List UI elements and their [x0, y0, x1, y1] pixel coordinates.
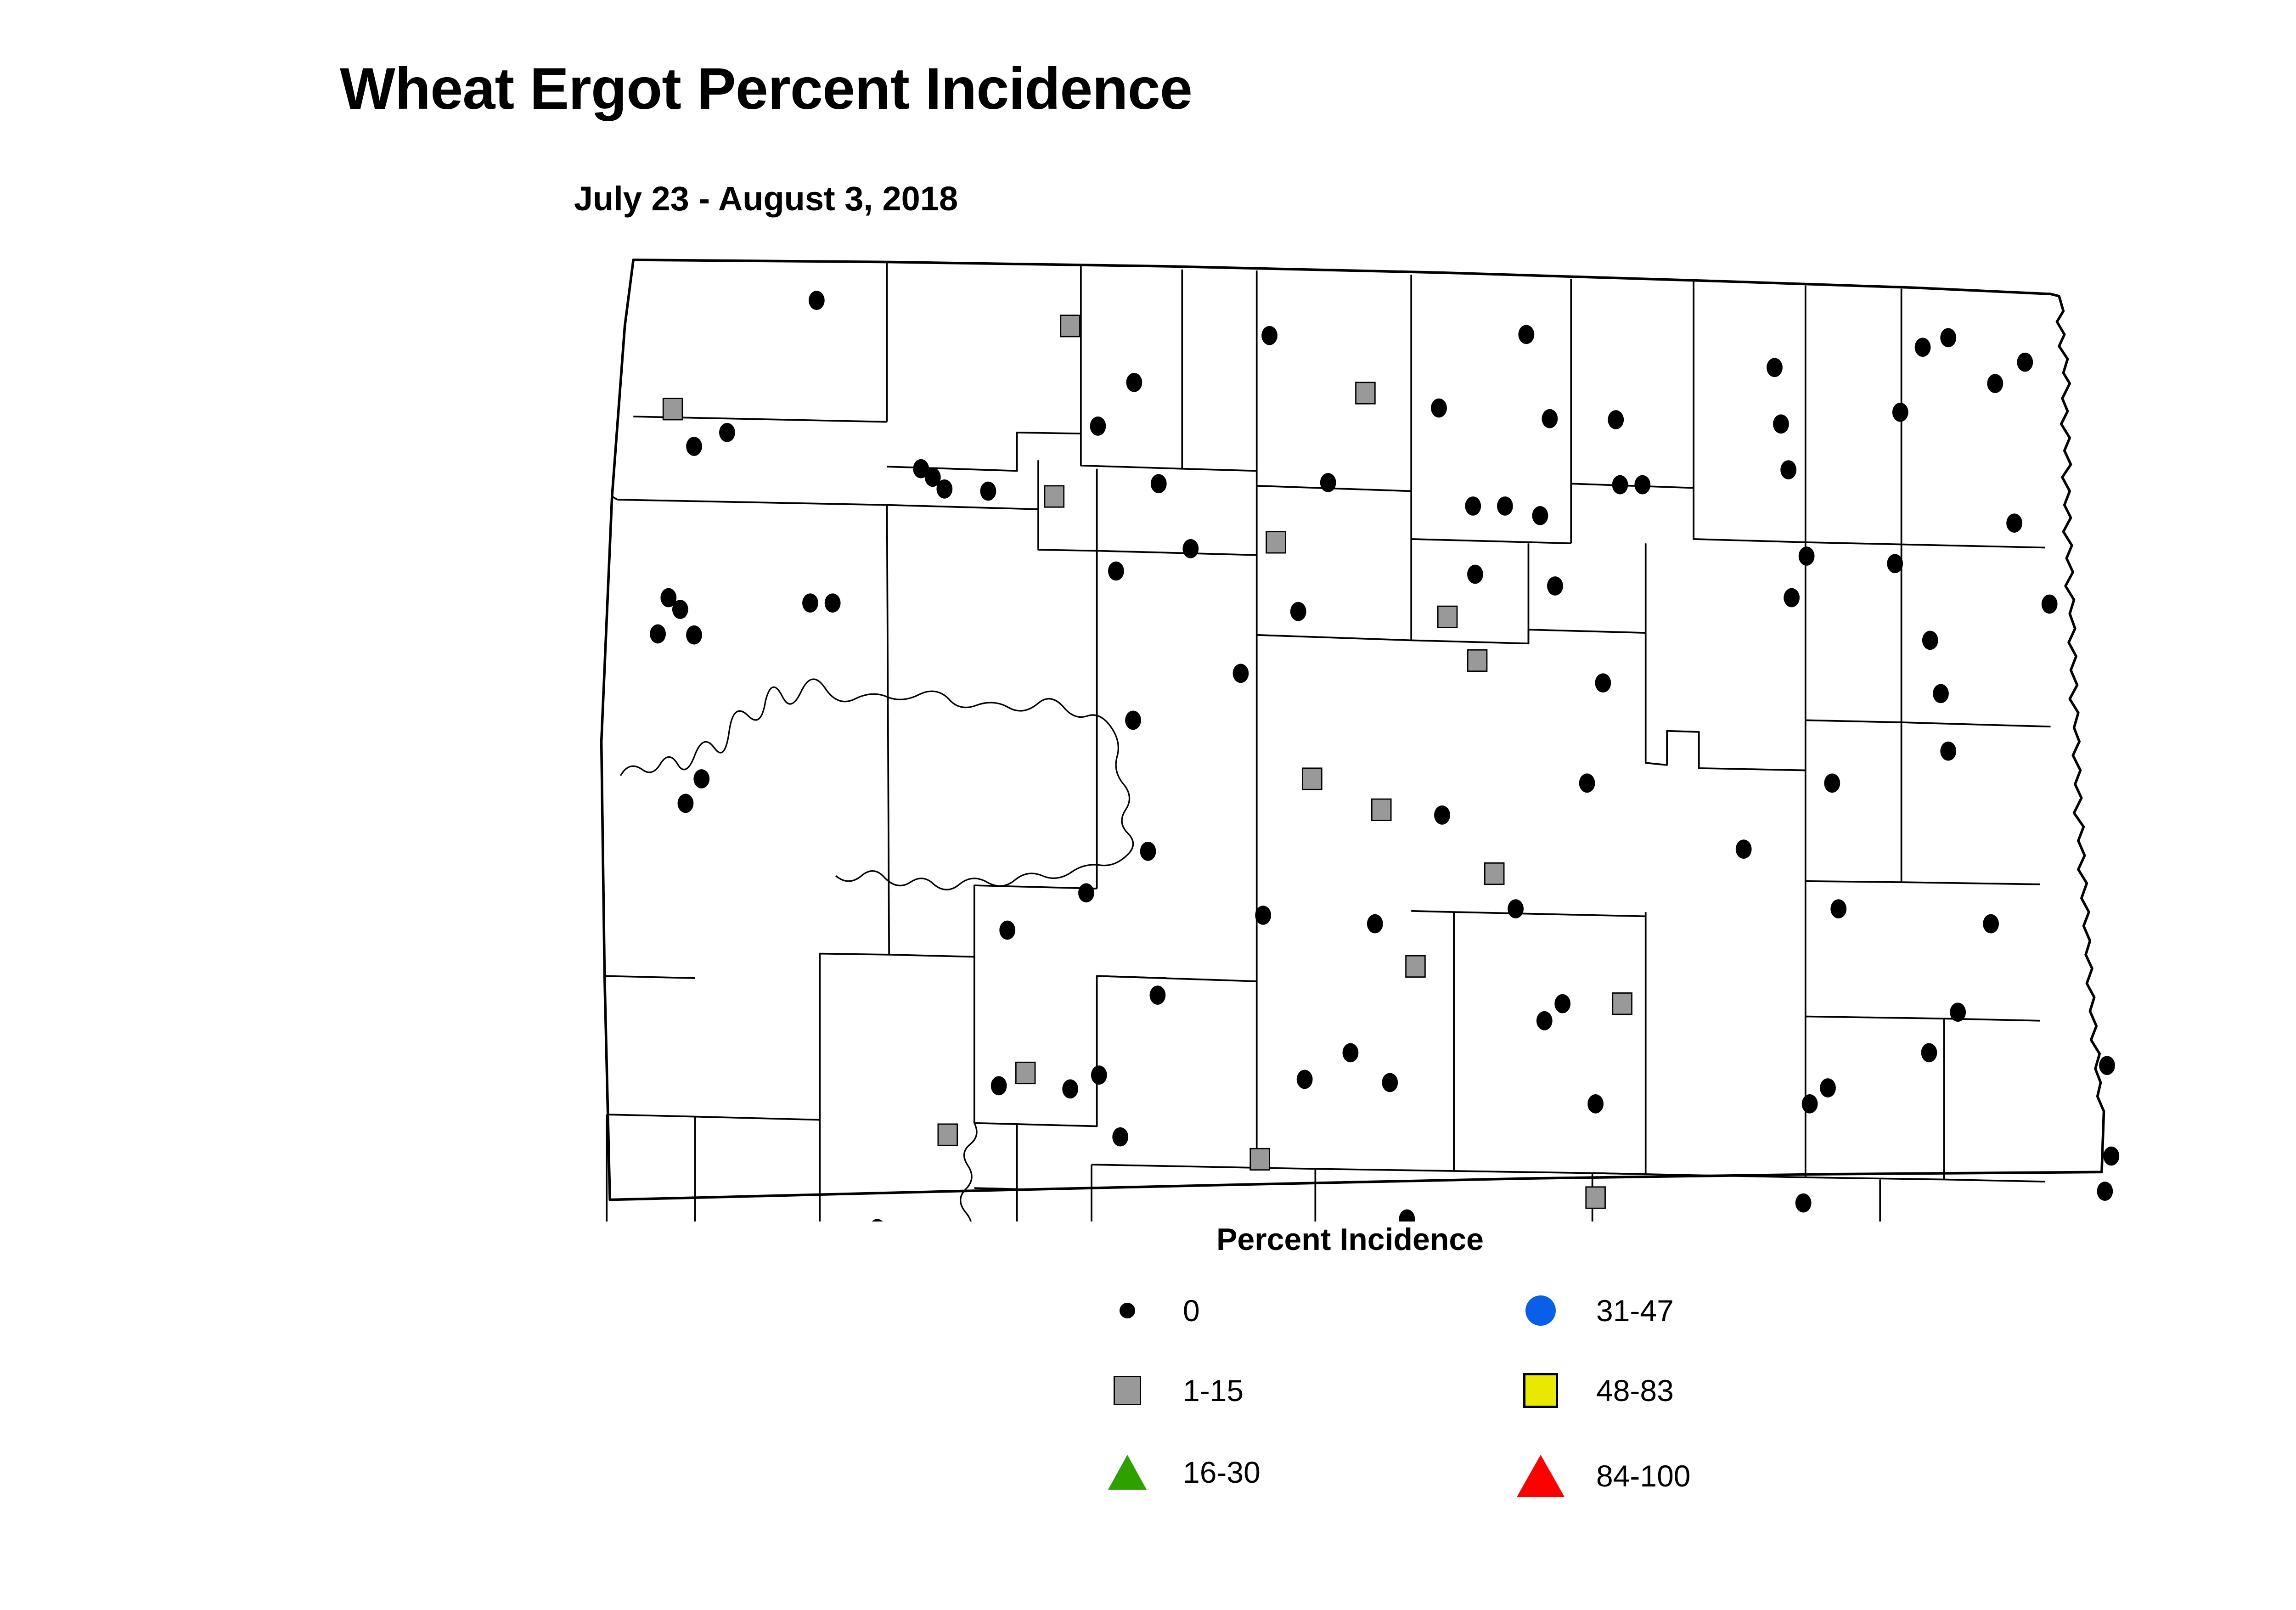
map-point-0 — [1987, 374, 2003, 393]
yellow-square-icon — [1506, 1373, 1575, 1408]
map-point-0 — [1382, 1073, 1398, 1092]
map-point-0 — [1587, 1094, 1604, 1114]
map-point-0 — [1820, 1078, 1836, 1098]
map-point-0 — [1090, 417, 1106, 436]
small-black-circle-icon — [1093, 1303, 1162, 1318]
map-point-0 — [1497, 496, 1513, 516]
map-point-0 — [1091, 1065, 1107, 1085]
map-point-0 — [1802, 1094, 1818, 1114]
legend-item-label: 31-47 — [1596, 1293, 1674, 1328]
map-point-0 — [1921, 1043, 1937, 1063]
map-point-0 — [1150, 985, 1166, 1005]
map-point-0 — [2099, 1056, 2115, 1075]
map-point-1-15 — [1468, 650, 1487, 671]
map-point-0 — [1078, 883, 1094, 902]
map-point-0 — [1518, 325, 1534, 344]
map-point-0 — [1465, 496, 1481, 516]
map-point-0 — [1579, 773, 1595, 793]
map-point-0 — [1434, 805, 1450, 825]
legend-item-0: 0 — [1093, 1293, 1200, 1328]
map-point-0 — [825, 593, 841, 613]
map-point-0 — [1508, 899, 1524, 918]
legend-item-label: 0 — [1183, 1293, 1200, 1328]
map-point-0 — [1320, 473, 1336, 492]
map-point-0 — [1940, 328, 1956, 347]
map-point-0 — [1915, 338, 1931, 357]
map-point-0 — [1795, 1193, 1812, 1213]
data-points — [602, 291, 2155, 1222]
legend: Percent Incidence 0 1-15 16-30 31-47 48-… — [1029, 1222, 1947, 1589]
map-point-0 — [1125, 711, 1141, 730]
map-point-0 — [1255, 906, 1271, 925]
map-point-1-15 — [663, 399, 682, 420]
map-point-1-15 — [1586, 1187, 1605, 1208]
map-point-0 — [1887, 554, 1903, 573]
map-point-0 — [1612, 475, 1628, 495]
county-boundaries — [602, 260, 2104, 1222]
map-point-1-15 — [1045, 486, 1064, 507]
missouri-river — [961, 1123, 1014, 1222]
map-point-0 — [936, 479, 952, 499]
map-point-0 — [1824, 773, 1840, 793]
map-point-0 — [1290, 602, 1306, 621]
map-point-1-15 — [1016, 1062, 1035, 1083]
map-point-0 — [1736, 839, 1752, 859]
gray-square-icon — [1093, 1376, 1162, 1405]
legend-item-label: 84-100 — [1596, 1458, 1691, 1493]
green-triangle-icon — [1093, 1455, 1162, 1490]
map-point-0 — [1343, 1043, 1359, 1063]
map-point-0 — [1595, 673, 1611, 692]
map-point-0 — [1126, 373, 1142, 392]
map-point-0 — [1922, 630, 1938, 650]
map-point-0 — [980, 482, 996, 501]
legend-item-3: 31-47 — [1506, 1293, 1674, 1328]
map-point-0 — [693, 769, 709, 788]
map-point-0 — [1536, 1011, 1553, 1030]
map-point-0 — [1062, 1079, 1078, 1098]
map-point-0 — [869, 1219, 885, 1222]
map-point-0 — [1554, 994, 1570, 1013]
map-point-0 — [1151, 474, 1167, 493]
map-point-0 — [1542, 409, 1558, 428]
legend-item-label: 48-83 — [1596, 1373, 1674, 1408]
map-point-0 — [1933, 684, 1949, 704]
legend-item-2: 16-30 — [1093, 1455, 1261, 1490]
legend-item-5: 84-100 — [1506, 1455, 1691, 1497]
map-point-0 — [1608, 410, 1624, 429]
map-point-1-15 — [1061, 315, 1080, 337]
map-point-0 — [1773, 414, 1789, 433]
map-point-0 — [1532, 506, 1548, 525]
map-point-1-15 — [1356, 383, 1375, 404]
map-point-0 — [1547, 576, 1563, 596]
legend-item-1: 1-15 — [1093, 1373, 1244, 1408]
map-point-0 — [1780, 460, 1796, 479]
map-point-0 — [2042, 595, 2058, 614]
map-point-0 — [650, 625, 666, 644]
map-point-0 — [1367, 914, 1383, 934]
blue-circle-icon — [1506, 1295, 1575, 1326]
map-point-0 — [1399, 1210, 1415, 1222]
map-point-0 — [1431, 399, 1447, 418]
map-point-0 — [686, 625, 702, 645]
map-point-0 — [1784, 588, 1800, 608]
map-point-1-15 — [1372, 799, 1391, 820]
map-point-0 — [1983, 914, 1999, 934]
legend-title: Percent Incidence — [1029, 1222, 1671, 1257]
map-point-0 — [719, 423, 735, 442]
map-point-0 — [1112, 1127, 1128, 1147]
map-point-0 — [1140, 842, 1156, 861]
map-point-0 — [2006, 513, 2022, 533]
map-point-0 — [1261, 326, 1277, 345]
map-point-0 — [802, 593, 818, 613]
red-triangle-icon — [1506, 1455, 1575, 1497]
legend-item-label: 1-15 — [1183, 1373, 1244, 1408]
map-point-0 — [1467, 565, 1483, 584]
map-point-1-15 — [1406, 956, 1425, 977]
map-point-0 — [1634, 475, 1650, 495]
legend-item-4: 48-83 — [1506, 1373, 1674, 1408]
map-svg — [569, 230, 2232, 1222]
map-point-0 — [1297, 1070, 1313, 1089]
map-point-0 — [686, 437, 702, 456]
map-point-0 — [2103, 1147, 2119, 1166]
map-point-1-15 — [1438, 606, 1457, 627]
map-point-0 — [2017, 353, 2033, 372]
map-point-0 — [1799, 546, 1815, 566]
page-title: Wheat Ergot Percent Incidence — [0, 55, 2294, 123]
map-point-0 — [2097, 1182, 2113, 1201]
map-point-1-15 — [938, 1124, 957, 1145]
map-point-0 — [1950, 1002, 1966, 1022]
map-point-1-15 — [1613, 993, 1632, 1014]
map-point-1-15 — [1266, 532, 1286, 553]
map-point-0 — [1767, 358, 1783, 377]
map-point-0 — [1892, 403, 1908, 422]
map-point-1-15 — [1303, 768, 1322, 789]
map-point-0 — [1233, 664, 1249, 683]
map-page: Wheat Ergot Percent Incidence July 23 - … — [0, 0, 2296, 1610]
map-point-0 — [1108, 562, 1124, 581]
legend-item-label: 16-30 — [1183, 1455, 1261, 1490]
map-point-0 — [672, 600, 688, 619]
north-dakota-map — [569, 230, 2232, 1222]
map-point-0 — [678, 794, 694, 813]
map-point-1-15 — [1485, 863, 1504, 884]
map-point-0 — [1940, 742, 1956, 761]
map-point-0 — [999, 921, 1015, 940]
map-point-0 — [809, 291, 825, 310]
map-point-0 — [991, 1076, 1007, 1095]
map-point-0 — [1182, 539, 1199, 558]
map-point-0 — [1830, 899, 1846, 918]
page-subtitle: July 23 - August 3, 2018 — [0, 179, 2294, 218]
map-point-1-15 — [1250, 1148, 1270, 1170]
